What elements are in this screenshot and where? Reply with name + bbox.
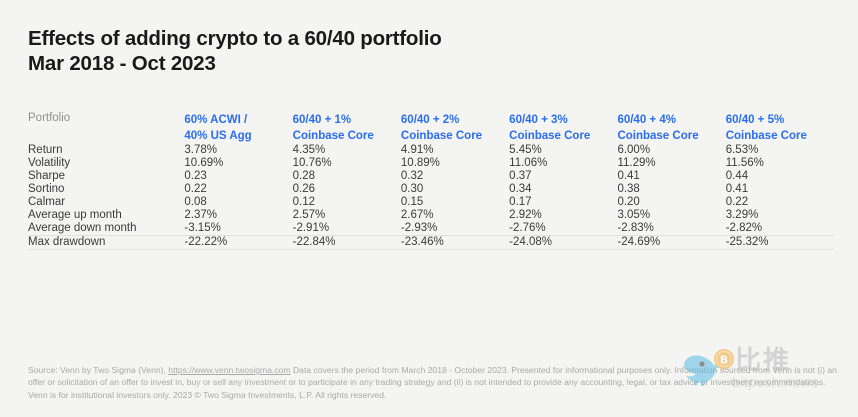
cell-sortino-5: 0.41 bbox=[726, 183, 834, 196]
cell-maxdd-1: -22.84% bbox=[293, 236, 401, 250]
table-row: Calmar 0.08 0.12 0.15 0.17 0.20 0.22 bbox=[28, 196, 834, 209]
header-col-3-line2: Coinbase Core bbox=[509, 128, 617, 144]
header-col-2: 60/40 + 2% Coinbase Core bbox=[401, 112, 509, 144]
cell-avgup-4: 3.05% bbox=[617, 209, 725, 222]
row-label-average-down-month: Average down month bbox=[28, 222, 184, 236]
header-col-4-line1: 60/40 + 4% bbox=[617, 114, 676, 126]
cell-return-1: 4.35% bbox=[293, 144, 401, 157]
row-label-calmar: Calmar bbox=[28, 196, 184, 209]
header-col-0-line1: 60% ACWI / bbox=[184, 114, 247, 126]
header-col-4: 60/40 + 4% Coinbase Core bbox=[617, 112, 725, 144]
cell-sortino-0: 0.22 bbox=[184, 183, 292, 196]
cell-sortino-2: 0.30 bbox=[401, 183, 509, 196]
header-col-4-line2: Coinbase Core bbox=[617, 128, 725, 144]
cell-sharpe-1: 0.28 bbox=[293, 170, 401, 183]
header-col-5: 60/40 + 5% Coinbase Core bbox=[726, 112, 834, 144]
row-label-max-drawdown: Max drawdown bbox=[28, 236, 184, 250]
metrics-table: Portfolio 60% ACWI / 40% US Agg 60/40 + … bbox=[28, 112, 834, 250]
table-header-row: Portfolio 60% ACWI / 40% US Agg 60/40 + … bbox=[28, 112, 834, 144]
header-col-5-line2: Coinbase Core bbox=[726, 128, 834, 144]
header-col-2-line1: 60/40 + 2% bbox=[401, 114, 460, 126]
table-row: Average down month -3.15% -2.91% -2.93% … bbox=[28, 222, 834, 236]
header-portfolio: Portfolio bbox=[28, 112, 184, 144]
cell-volatility-0: 10.69% bbox=[184, 157, 292, 170]
cell-maxdd-0: -22.22% bbox=[184, 236, 292, 250]
cell-avgup-0: 2.37% bbox=[184, 209, 292, 222]
cell-avgdown-5: -2.82% bbox=[726, 222, 834, 236]
header-col-1-line1: 60/40 + 1% bbox=[293, 114, 352, 126]
source-prefix: Source: Venn by Two Sigma (Venn), bbox=[28, 365, 166, 375]
source-url-link[interactable]: https://www.venn.twosigma.com bbox=[168, 365, 290, 375]
cell-avgup-1: 2.57% bbox=[293, 209, 401, 222]
cell-volatility-5: 11.56% bbox=[726, 157, 834, 170]
cell-return-0: 3.78% bbox=[184, 144, 292, 157]
page-title: Effects of adding crypto to a 60/40 port… bbox=[28, 26, 728, 76]
cell-sharpe-2: 0.32 bbox=[401, 170, 509, 183]
table-row: Volatility 10.69% 10.76% 10.89% 11.06% 1… bbox=[28, 157, 834, 170]
cell-calmar-4: 0.20 bbox=[617, 196, 725, 209]
header-col-0: 60% ACWI / 40% US Agg bbox=[184, 112, 292, 144]
cell-avgup-3: 2.92% bbox=[509, 209, 617, 222]
cell-maxdd-3: -24.08% bbox=[509, 236, 617, 250]
cell-return-5: 6.53% bbox=[726, 144, 834, 157]
cell-return-2: 4.91% bbox=[401, 144, 509, 157]
cell-avgup-5: 3.29% bbox=[726, 209, 834, 222]
header-col-1-line2: Coinbase Core bbox=[293, 128, 401, 144]
cell-maxdd-5: -25.32% bbox=[726, 236, 834, 250]
row-label-average-up-month: Average up month bbox=[28, 209, 184, 222]
cell-calmar-2: 0.15 bbox=[401, 196, 509, 209]
cell-avgdown-0: -3.15% bbox=[184, 222, 292, 236]
cell-sharpe-4: 0.41 bbox=[617, 170, 725, 183]
header-col-5-line1: 60/40 + 5% bbox=[726, 114, 785, 126]
cell-volatility-1: 10.76% bbox=[293, 157, 401, 170]
table-row: Average up month 2.37% 2.57% 2.67% 2.92%… bbox=[28, 209, 834, 222]
cell-maxdd-2: -23.46% bbox=[401, 236, 509, 250]
header-col-3: 60/40 + 3% Coinbase Core bbox=[509, 112, 617, 144]
cell-volatility-2: 10.89% bbox=[401, 157, 509, 170]
header-col-3-line1: 60/40 + 3% bbox=[509, 114, 568, 126]
metrics-table-container: Portfolio 60% ACWI / 40% US Agg 60/40 + … bbox=[28, 112, 834, 250]
cell-calmar-1: 0.12 bbox=[293, 196, 401, 209]
title-line-2: Mar 2018 - Oct 2023 bbox=[28, 51, 728, 76]
title-line-1: Effects of adding crypto to a 60/40 port… bbox=[28, 26, 728, 51]
cell-calmar-3: 0.17 bbox=[509, 196, 617, 209]
header-col-0-line2: 40% US Agg bbox=[184, 128, 292, 144]
source-disclaimer: Source: Venn by Two Sigma (Venn), https:… bbox=[28, 364, 838, 401]
table-row: Sortino 0.22 0.26 0.30 0.34 0.38 0.41 bbox=[28, 183, 834, 196]
cell-sortino-4: 0.38 bbox=[617, 183, 725, 196]
cell-return-4: 6.00% bbox=[617, 144, 725, 157]
cell-calmar-0: 0.08 bbox=[184, 196, 292, 209]
cell-sharpe-5: 0.44 bbox=[726, 170, 834, 183]
cell-sharpe-3: 0.37 bbox=[509, 170, 617, 183]
cell-sharpe-0: 0.23 bbox=[184, 170, 292, 183]
cell-maxdd-4: -24.69% bbox=[617, 236, 725, 250]
table-header: Portfolio 60% ACWI / 40% US Agg 60/40 + … bbox=[28, 112, 834, 144]
table-row: Sharpe 0.23 0.28 0.32 0.37 0.41 0.44 bbox=[28, 170, 834, 183]
infographic-page: Effects of adding crypto to a 60/40 port… bbox=[0, 0, 858, 417]
row-label-sortino: Sortino bbox=[28, 183, 184, 196]
table-body: Return 3.78% 4.35% 4.91% 5.45% 6.00% 6.5… bbox=[28, 144, 834, 250]
header-col-2-line2: Coinbase Core bbox=[401, 128, 509, 144]
cell-avgdown-1: -2.91% bbox=[293, 222, 401, 236]
cell-calmar-5: 0.22 bbox=[726, 196, 834, 209]
cell-volatility-4: 11.29% bbox=[617, 157, 725, 170]
row-label-volatility: Volatility bbox=[28, 157, 184, 170]
row-label-return: Return bbox=[28, 144, 184, 157]
cell-avgdown-3: -2.76% bbox=[509, 222, 617, 236]
cell-sortino-3: 0.34 bbox=[509, 183, 617, 196]
cell-return-3: 5.45% bbox=[509, 144, 617, 157]
cell-avgup-2: 2.67% bbox=[401, 209, 509, 222]
cell-avgdown-2: -2.93% bbox=[401, 222, 509, 236]
table-row: Max drawdown -22.22% -22.84% -23.46% -24… bbox=[28, 236, 834, 250]
table-row: Return 3.78% 4.35% 4.91% 5.45% 6.00% 6.5… bbox=[28, 144, 834, 157]
cell-sortino-1: 0.26 bbox=[293, 183, 401, 196]
cell-avgdown-4: -2.83% bbox=[617, 222, 725, 236]
row-label-sharpe: Sharpe bbox=[28, 170, 184, 183]
header-col-1: 60/40 + 1% Coinbase Core bbox=[293, 112, 401, 144]
cell-volatility-3: 11.06% bbox=[509, 157, 617, 170]
